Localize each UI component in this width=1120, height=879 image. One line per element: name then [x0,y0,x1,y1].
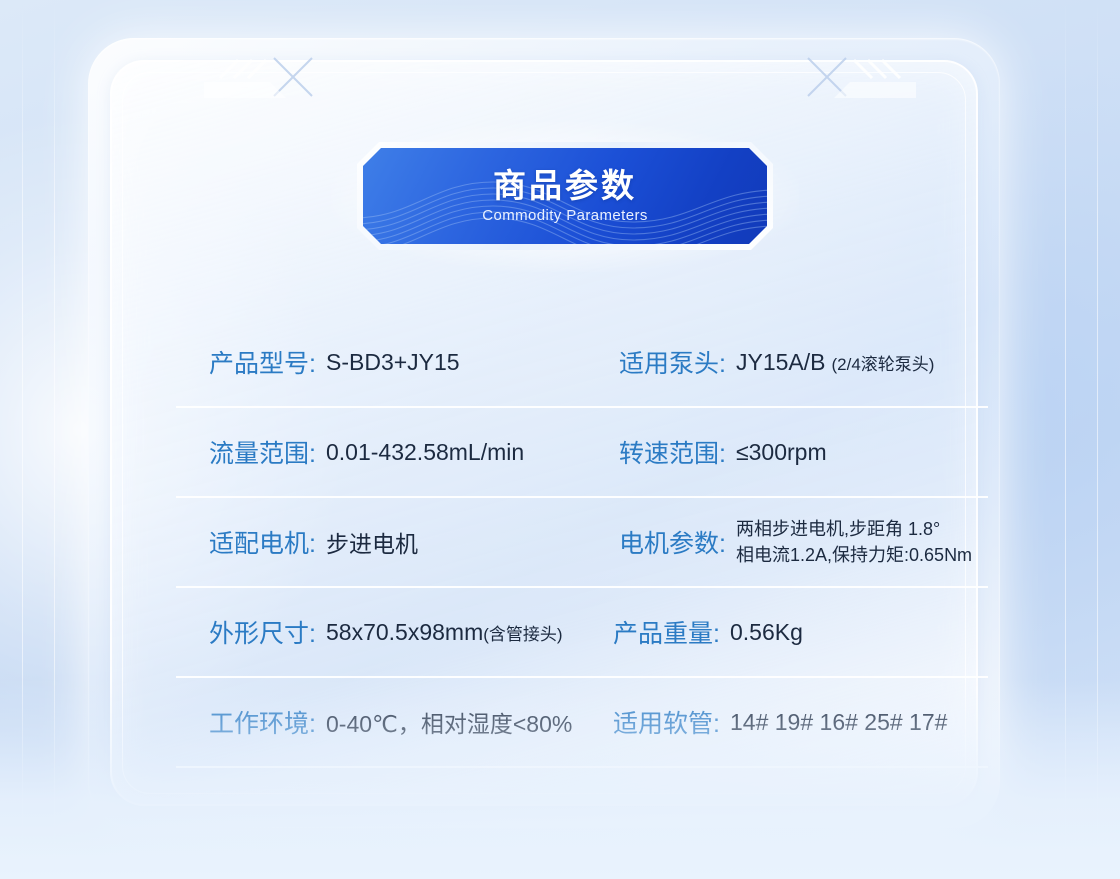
spec-value: 14# 19# 16# 25# 17# [730,709,947,736]
banner-body: 商品参数 Commodity Parameters [363,148,767,244]
spec-cell-weight: 产品重量: 0.56Kg [586,614,988,650]
spec-label: 产品重量: [586,614,720,650]
spec-value-main: JY15A/B [736,349,826,375]
spec-value-line-1: 两相步进电机,步距角 1.8° [736,516,972,542]
spec-value: 0.56Kg [730,619,803,646]
spec-label: 流量范围: [176,434,316,470]
spec-row: 工作环境: 0-40℃，相对湿度<80% 适用软管: 14# 19# 16# 2… [176,678,988,768]
spec-value-main: 58x70.5x98mm [326,619,483,645]
spec-value-note: (含管接头) [483,625,562,644]
spec-cell-pump-head: 适用泵头: JY15A/B(2/4滚轮泵头) [586,344,988,380]
banner-title-cn: 商品参数 [493,168,637,204]
spec-label: 适用泵头: [586,344,726,380]
spec-cell-speed-range: 转速范围: ≤300rpm [586,434,988,470]
spec-value: 0.01-432.58mL/min [326,439,524,466]
spec-value: 步进电机 [326,525,418,559]
spec-label: 工作环境: [176,704,316,740]
spec-cell-motor-parameters: 电机参数: 两相步进电机,步距角 1.8° 相电流1.2A,保持力矩:0.65N… [586,516,988,568]
spec-label: 产品型号: [176,344,316,380]
spec-row: 产品型号: S-BD3+JY15 适用泵头: JY15A/B(2/4滚轮泵头) [176,318,988,408]
background-stripe [1065,0,1066,879]
background-stripe [54,0,55,879]
spec-label: 适配电机: [176,524,316,560]
spec-value: S-BD3+JY15 [326,349,460,376]
spec-cell-product-model: 产品型号: S-BD3+JY15 [176,344,586,380]
banner-title-en: Commodity Parameters [482,207,648,224]
spec-value: 58x70.5x98mm(含管接头) [326,619,563,646]
spec-value: JY15A/B(2/4滚轮泵头) [736,349,934,376]
spec-label: 转速范围: [586,434,726,470]
specifications-table: 产品型号: S-BD3+JY15 适用泵头: JY15A/B(2/4滚轮泵头) … [176,318,988,768]
spec-value-note: (2/4滚轮泵头) [832,355,935,374]
spec-label: 电机参数: [586,524,726,560]
spec-value-line-2: 相电流1.2A,保持力矩:0.65Nm [736,542,972,568]
spec-cell-tubing: 适用软管: 14# 19# 16# 25# 17# [586,704,988,740]
spec-cell-flow-range: 流量范围: 0.01-432.58mL/min [176,434,586,470]
spec-cell-motor-type: 适配电机: 步进电机 [176,524,586,560]
spec-value: ≤300rpm [736,439,827,466]
spec-cell-operating-environment: 工作环境: 0-40℃，相对湿度<80% [176,704,586,740]
spec-cell-dimensions: 外形尺寸: 58x70.5x98mm(含管接头) [176,614,586,650]
background-stripe [1097,0,1098,879]
spec-row: 流量范围: 0.01-432.58mL/min 转速范围: ≤300rpm [176,408,988,498]
spec-row: 适配电机: 步进电机 电机参数: 两相步进电机,步距角 1.8° 相电流1.2A… [176,498,988,588]
spec-value: 两相步进电机,步距角 1.8° 相电流1.2A,保持力矩:0.65Nm [736,516,972,568]
title-banner: 商品参数 Commodity Parameters [357,142,773,250]
spec-row: 外形尺寸: 58x70.5x98mm(含管接头) 产品重量: 0.56Kg [176,588,988,678]
spec-label: 外形尺寸: [176,614,316,650]
background-stripe [22,0,23,879]
spec-label: 适用软管: [586,704,720,740]
spec-value: 0-40℃，相对湿度<80% [326,705,572,739]
